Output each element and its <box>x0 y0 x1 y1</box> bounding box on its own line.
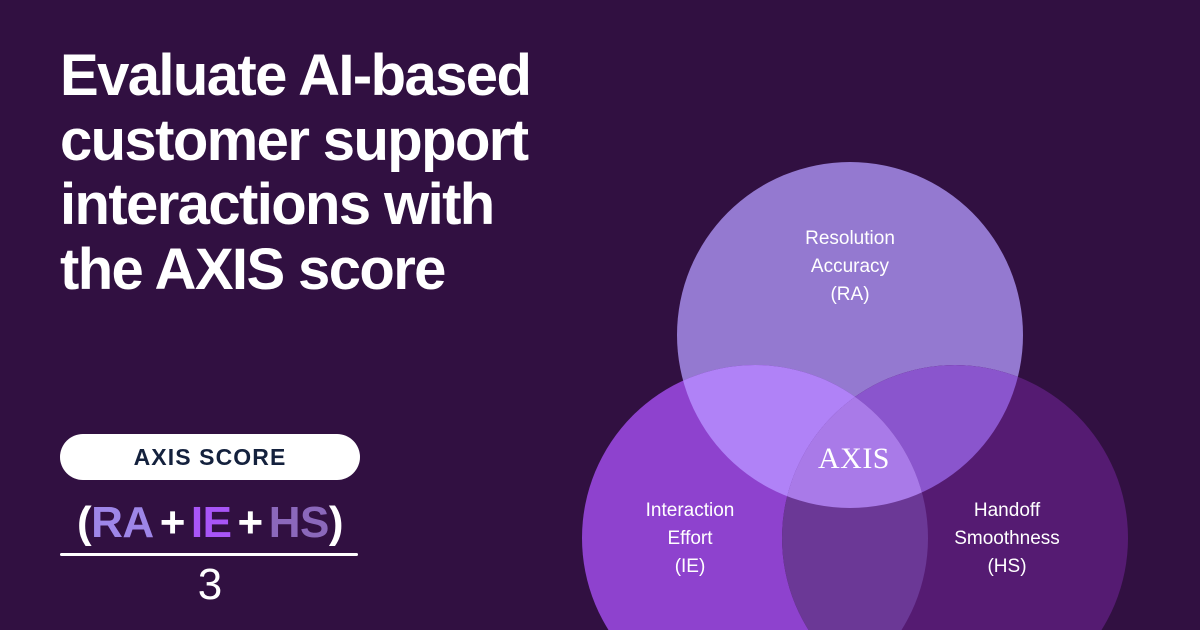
venn-label-hs-line2: Smoothness <box>954 528 1060 549</box>
venn-label-ra-line1: Resolution <box>805 228 895 249</box>
formula-open-paren: ( <box>77 498 91 547</box>
status-badge: AXIS SCORE <box>60 434 360 480</box>
venn-center-label: AXIS <box>818 442 890 475</box>
formula-denominator: 3 <box>60 562 360 608</box>
formula-numerator: (RA+IE+HS) <box>60 500 360 546</box>
formula-plus-1: + <box>160 498 185 547</box>
formula-plus-2: + <box>238 498 263 547</box>
formula-close-paren: ) <box>329 498 343 547</box>
venn-diagram: Resolution Accuracy (RA) Interaction Eff… <box>560 120 1200 630</box>
venn-label-ra-line3: (RA) <box>830 284 869 305</box>
formula-term-ie: IE <box>191 498 232 547</box>
venn-label-hs-line1: Handoff <box>974 500 1041 521</box>
venn-label-ie-line2: Effort <box>667 528 713 549</box>
venn-label-ra-line2: Accuracy <box>811 256 890 277</box>
status-badge-label: AXIS SCORE <box>134 444 287 471</box>
formula-term-hs: HS <box>269 498 329 547</box>
formula-term-ra: RA <box>91 498 154 547</box>
axis-score-formula: (RA+IE+HS) 3 <box>60 500 360 608</box>
venn-label-ie-line1: Interaction <box>646 500 735 521</box>
social-card: Evaluate AI-based customer support inter… <box>0 0 1200 630</box>
venn-label-ie-line3: (IE) <box>675 556 706 577</box>
venn-label-hs-line3: (HS) <box>987 556 1026 577</box>
fraction-rule <box>60 553 358 556</box>
